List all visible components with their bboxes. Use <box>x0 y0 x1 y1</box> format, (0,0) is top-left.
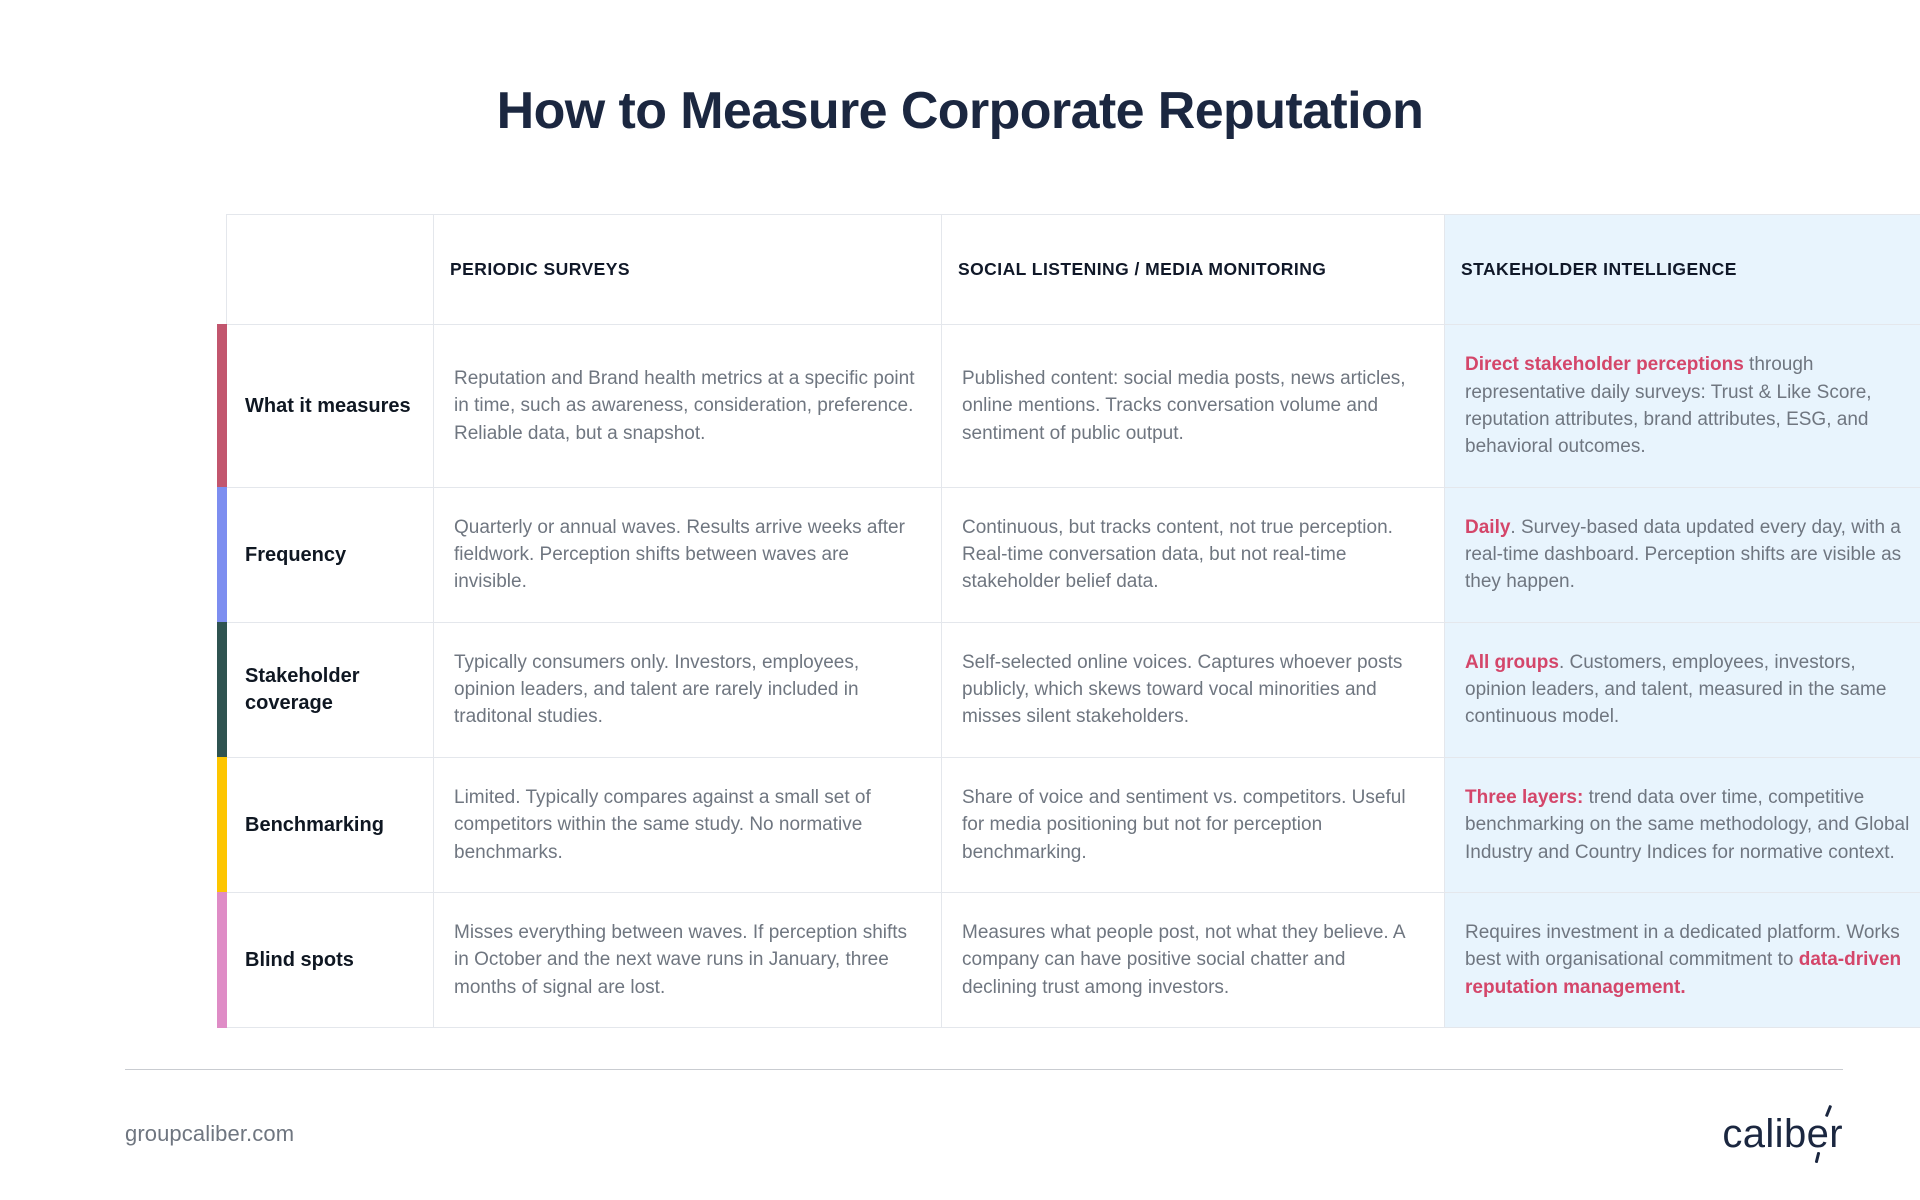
cell-social-listening: Measures what people post, not what they… <box>942 892 1445 1027</box>
table-body: What it measuresReputation and Brand hea… <box>227 325 1920 1028</box>
cell-stakeholder-intelligence: Requires investment in a dedicated platf… <box>1445 892 1920 1027</box>
footer-divider <box>125 1069 1843 1070</box>
table-row: Stakeholder coverageTypically consumers … <box>227 622 1920 757</box>
table-row: FrequencyQuarterly or annual waves. Resu… <box>227 487 1920 622</box>
table-row: What it measuresReputation and Brand hea… <box>227 325 1920 487</box>
column-header-stakeholder-intelligence: STAKEHOLDER INTELLIGENCE <box>1445 215 1920 325</box>
cell-highlight-phrase: Three layers: <box>1465 787 1583 808</box>
column-header-social-listening: SOCIAL LISTENING / MEDIA MONITORING <box>942 215 1445 325</box>
infographic-page: How to Measure Corporate Reputation PERI… <box>0 0 1920 1200</box>
row-label-text: Benchmarking <box>245 814 384 836</box>
row-label-text: Stakeholder coverage <box>245 665 359 713</box>
cell-stakeholder-intelligence: All groups. Customers, employees, invest… <box>1445 622 1920 757</box>
row-label-text: What it measures <box>245 395 411 417</box>
footer-row: groupcaliber.com caliber <box>125 1114 1843 1154</box>
column-header-periodic-surveys: PERIODIC SURVEYS <box>434 215 942 325</box>
table-row: Blind spotsMisses everything between wav… <box>227 892 1920 1027</box>
row-label-4: Benchmarking <box>227 757 434 892</box>
row-accent-bar <box>217 892 227 1028</box>
comparison-matrix-table: PERIODIC SURVEYS SOCIAL LISTENING / MEDI… <box>226 214 1920 1028</box>
cell-body-text: . Survey-based data updated every day, w… <box>1465 517 1901 593</box>
cell-highlight-phrase: Direct stakeholder perceptions <box>1465 354 1744 375</box>
table-header: PERIODIC SURVEYS SOCIAL LISTENING / MEDI… <box>227 215 1920 325</box>
cell-social-listening: Self-selected online voices. Captures wh… <box>942 622 1445 757</box>
logo-accent-e: e <box>1807 1114 1830 1154</box>
cell-periodic-surveys: Reputation and Brand health metrics at a… <box>434 325 942 487</box>
logo-text-end: r <box>1829 1112 1843 1156</box>
table-corner-cell <box>227 215 434 325</box>
row-label-1: What it measures <box>227 325 434 487</box>
cell-stakeholder-intelligence: Three layers: trend data over time, comp… <box>1445 757 1920 892</box>
cell-stakeholder-intelligence: Direct stakeholder perceptions through r… <box>1445 325 1920 487</box>
table-header-row: PERIODIC SURVEYS SOCIAL LISTENING / MEDI… <box>227 215 1920 325</box>
page-title: How to Measure Corporate Reputation <box>0 82 1920 140</box>
cell-stakeholder-intelligence: Daily. Survey-based data updated every d… <box>1445 487 1920 622</box>
row-accent-bar <box>217 622 227 758</box>
row-label-3: Stakeholder coverage <box>227 622 434 757</box>
cell-social-listening: Share of voice and sentiment vs. competi… <box>942 757 1445 892</box>
row-label-text: Frequency <box>245 544 346 566</box>
cell-highlight-phrase: Daily <box>1465 517 1510 538</box>
row-accent-bar <box>217 487 227 623</box>
cell-social-listening: Published content: social media posts, n… <box>942 325 1445 487</box>
row-label-2: Frequency <box>227 487 434 622</box>
cell-social-listening: Continuous, but tracks content, not true… <box>942 487 1445 622</box>
cell-highlight-phrase: All groups <box>1465 652 1559 673</box>
cell-periodic-surveys: Quarterly or annual waves. Results arriv… <box>434 487 942 622</box>
row-accent-bar <box>217 757 227 893</box>
footer: groupcaliber.com caliber <box>125 1069 1843 1154</box>
cell-periodic-surveys: Limited. Typically compares against a sm… <box>434 757 942 892</box>
logo-text-start: calib <box>1722 1112 1806 1156</box>
caliber-logo: caliber <box>1722 1114 1843 1154</box>
table-row: BenchmarkingLimited. Typically compares … <box>227 757 1920 892</box>
cell-periodic-surveys: Misses everything between waves. If perc… <box>434 892 942 1027</box>
title-container: How to Measure Corporate Reputation <box>0 0 1920 140</box>
row-label-text: Blind spots <box>245 949 354 971</box>
row-label-5: Blind spots <box>227 892 434 1027</box>
row-accent-bar <box>217 324 227 487</box>
comparison-table-container: PERIODIC SURVEYS SOCIAL LISTENING / MEDI… <box>101 214 1819 1028</box>
cell-periodic-surveys: Typically consumers only. Investors, emp… <box>434 622 942 757</box>
footer-website-url: groupcaliber.com <box>125 1121 294 1147</box>
